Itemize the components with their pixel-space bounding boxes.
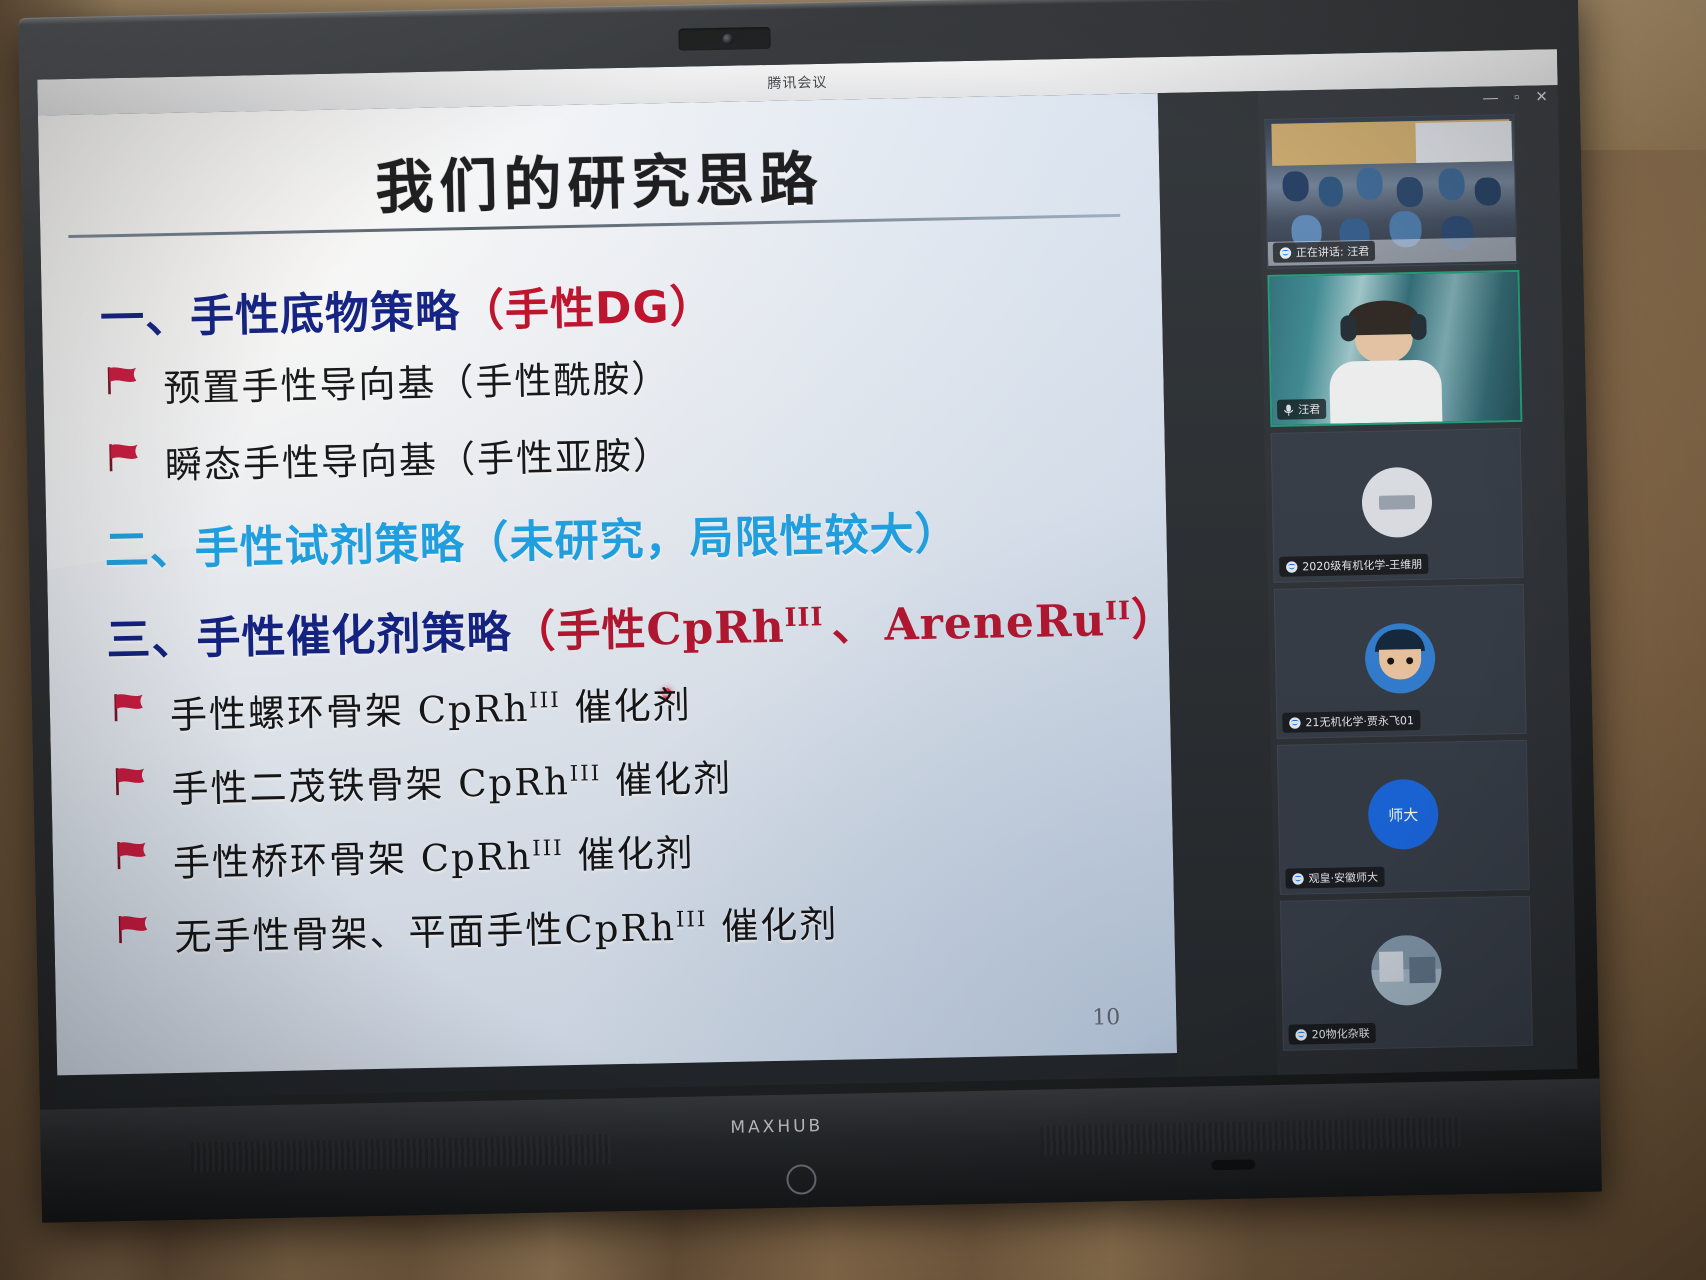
slide-section-heading-3: 三、手性催化剂策略（手性CpRhIII、AreneRuII） bbox=[106, 583, 1177, 668]
slide-bullet: 预置手性导向基（手性酰胺） bbox=[163, 348, 671, 412]
oxidation-state-3a: III bbox=[784, 602, 823, 633]
section-number-2: 二、 bbox=[104, 524, 195, 577]
tencent-meeting-logo-icon bbox=[1279, 246, 1292, 259]
participant-name: 20物化杂联 bbox=[1311, 1025, 1369, 1042]
tencent-meeting-logo-icon bbox=[1288, 716, 1301, 729]
maxhub-display: 腾讯会议 我们的研究思路 一、手性底物策略（手性DG） bbox=[18, 0, 1602, 1223]
tencent-meeting-logo-icon bbox=[1291, 872, 1304, 885]
bullet-text: 瞬态手性导向基（手性亚胺） bbox=[165, 434, 673, 487]
participant-name: 观皇·安徽师大 bbox=[1308, 869, 1378, 886]
meeting-title: 腾讯会议 bbox=[767, 72, 827, 93]
bullet-text: 无手性骨架、平面手性CpRh bbox=[174, 906, 676, 959]
speaking-banner: 正在讲话: 汪君 bbox=[1296, 243, 1370, 260]
tile-label: 正在讲话: 汪君 bbox=[1273, 241, 1376, 263]
section-heading-3: 手性催化剂策略 bbox=[196, 607, 512, 664]
participant-tile[interactable]: 21无机化学·贾永飞01 bbox=[1274, 584, 1527, 739]
red-flag-icon bbox=[113, 766, 148, 797]
slide-section-heading-1: 一、手性底物策略（手性DG） bbox=[99, 270, 715, 346]
slide-bullet: 无手性骨架、平面手性CpRhIII 催化剂 bbox=[174, 894, 839, 961]
oxidation-state: III bbox=[569, 761, 601, 787]
bullet-text: 手性桥环骨架 CpRh bbox=[173, 835, 533, 885]
paren-text-2: 未研究，局限性较大 bbox=[509, 509, 915, 568]
tencent-meeting-logo-icon bbox=[1295, 1028, 1308, 1041]
slide-letterbox bbox=[1158, 91, 1278, 1077]
paren-open-3: （ bbox=[511, 606, 557, 658]
tile-label: 观皇·安徽师大 bbox=[1285, 867, 1384, 889]
slide-section-heading-2: 二、手性试剂策略（未研究，局限性较大） bbox=[104, 497, 960, 578]
participant-panel: — ▫ ✕ bbox=[1258, 85, 1578, 1075]
oxidation-state: III bbox=[676, 907, 708, 933]
tile-label: 2020级有机化学-王维朋 bbox=[1279, 554, 1428, 577]
participant-tile-active-speaker[interactable]: 汪君 bbox=[1267, 270, 1522, 427]
oxidation-state: III bbox=[529, 688, 561, 714]
bullet-text: 手性二茂铁骨架 CpRh bbox=[171, 760, 570, 811]
tile-label: 20物化杂联 bbox=[1288, 1023, 1375, 1045]
shared-slide-region[interactable]: 我们的研究思路 一、手性底物策略（手性DG） 预置手性导向基（手性酰胺） bbox=[38, 93, 1178, 1099]
paren-separator-3: 、 bbox=[823, 600, 885, 652]
tile-label: 21无机化学·贾永飞01 bbox=[1282, 710, 1420, 733]
red-flag-icon bbox=[115, 840, 150, 871]
meeting-room-background: 腾讯会议 我们的研究思路 一、手性底物策略（手性DG） bbox=[0, 0, 1706, 1280]
slide-bullet: 手性二茂铁骨架 CpRhIII 催化剂 bbox=[171, 748, 733, 813]
participant-tile-list[interactable]: 正在讲话: 汪君 bbox=[1264, 114, 1535, 1057]
participant-name: 汪君 bbox=[1298, 401, 1320, 417]
bullet-text-suffix: 催化剂 bbox=[707, 903, 839, 949]
section-heading-2: 手性试剂策略 bbox=[194, 518, 465, 574]
red-flag-icon bbox=[105, 365, 140, 396]
mic-icon bbox=[1283, 403, 1294, 416]
bullet-text-suffix: 催化剂 bbox=[563, 832, 695, 878]
avatar: 师大 bbox=[1368, 779, 1439, 850]
window-controls[interactable]: — ▫ ✕ bbox=[1483, 91, 1548, 104]
slide-bullet: 瞬态手性导向基（手性亚胺） bbox=[164, 425, 672, 489]
slide-page-number: 10 bbox=[1092, 1005, 1120, 1031]
tencent-meeting-logo-icon bbox=[1285, 560, 1298, 573]
bullet-text-suffix: 催化剂 bbox=[560, 684, 692, 730]
paren-text-1: 手性DG bbox=[504, 282, 670, 336]
camera-lens-icon bbox=[722, 34, 733, 45]
participant-tile[interactable]: 师大 观皇·安徽师大 bbox=[1277, 740, 1530, 895]
avatar-initials: 师大 bbox=[1388, 804, 1418, 826]
oxidation-state-3b: II bbox=[1105, 596, 1131, 627]
participant-name: 2020级有机化学-王维朋 bbox=[1302, 556, 1422, 574]
paren-open-1: （ bbox=[459, 285, 505, 337]
maximize-icon[interactable]: ▫ bbox=[1514, 92, 1520, 104]
avatar bbox=[1371, 935, 1442, 1006]
ir-receiver bbox=[1211, 1159, 1255, 1170]
paren-close-2: ） bbox=[914, 508, 960, 560]
slide-bullet: 手性螺环骨架 CpRhIII 催化剂 bbox=[169, 675, 692, 739]
avatar bbox=[1364, 623, 1435, 694]
paren-close-1: ） bbox=[669, 281, 715, 333]
tile-label: 汪君 bbox=[1277, 399, 1326, 420]
section-number-1: 一、 bbox=[100, 292, 191, 345]
brand-logo: MAXHUB bbox=[730, 1116, 823, 1138]
slide-bullet: 手性桥环骨架 CpRhIII 催化剂 bbox=[172, 823, 695, 887]
display-screen: 腾讯会议 我们的研究思路 一、手性底物策略（手性DG） bbox=[37, 49, 1577, 1099]
participant-tile[interactable]: 2020级有机化学-王维朋 bbox=[1271, 428, 1524, 583]
section-heading-1: 手性底物策略 bbox=[190, 286, 461, 342]
oxidation-state: III bbox=[532, 836, 564, 862]
camera-module bbox=[678, 27, 770, 51]
paren-open-2: （ bbox=[464, 517, 510, 569]
red-flag-icon bbox=[107, 442, 142, 473]
bullet-text-suffix: 催化剂 bbox=[601, 757, 733, 803]
minimize-icon[interactable]: — bbox=[1483, 92, 1498, 104]
bullet-text: 手性螺环骨架 CpRh bbox=[170, 687, 530, 737]
close-icon[interactable]: ✕ bbox=[1535, 91, 1548, 103]
power-button[interactable] bbox=[786, 1164, 817, 1195]
bullet-text: 预置手性导向基（手性酰胺） bbox=[163, 357, 671, 410]
paren-text-3a: 手性CpRh bbox=[556, 602, 785, 658]
speaker-grille-left bbox=[191, 1134, 612, 1172]
section-number-3: 三、 bbox=[106, 614, 197, 667]
participant-tile-classroom[interactable]: 正在讲话: 汪君 bbox=[1264, 114, 1517, 269]
speaker-grille-right bbox=[1040, 1117, 1461, 1155]
participant-name: 21无机化学·贾永飞01 bbox=[1305, 712, 1414, 730]
presentation-slide: 我们的研究思路 一、手性底物策略（手性DG） 预置手性导向基（手性酰胺） bbox=[38, 93, 1177, 1075]
paren-text-3b: AreneRu bbox=[884, 595, 1106, 650]
participant-tile[interactable]: 20物化杂联 bbox=[1280, 896, 1533, 1051]
red-flag-icon bbox=[112, 692, 147, 723]
avatar bbox=[1361, 467, 1432, 538]
red-flag-icon bbox=[116, 914, 151, 945]
